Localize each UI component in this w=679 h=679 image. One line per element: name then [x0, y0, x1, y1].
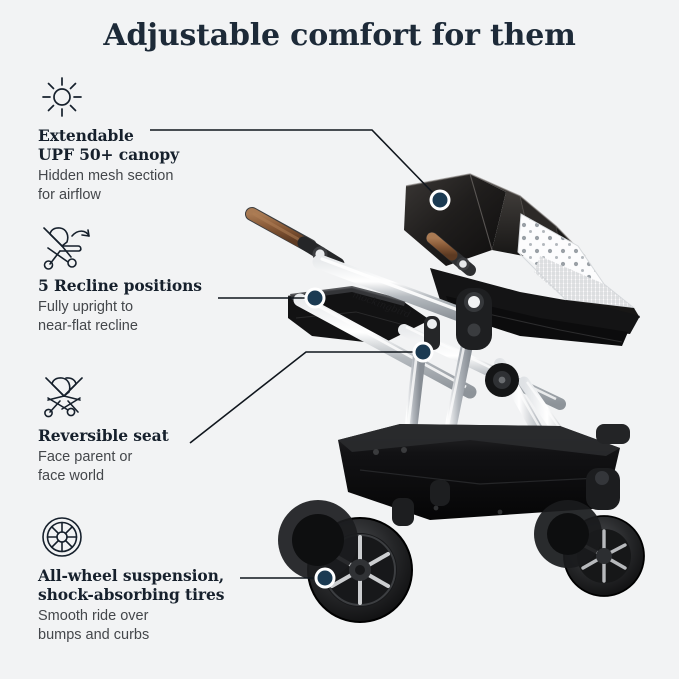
- feature-all-wheel-suspension: All-wheel suspension, shock-absorbing ti…: [38, 514, 253, 645]
- feature-body: Fully upright to near-flat recline: [38, 298, 253, 336]
- feature-body: Face parent or face world: [38, 448, 253, 486]
- rear-wheel-far: [278, 500, 358, 580]
- feature-extendable-canopy: Extendable UPF 50+ canopy Hidden mesh se…: [38, 74, 253, 205]
- feature-body-line1: Smooth ride over: [38, 608, 148, 624]
- feature-reversible-seat: Reversible seat Face parent or face worl…: [38, 374, 253, 486]
- feature-body-line2: near-flat recline: [38, 317, 253, 336]
- feature-heading: Extendable UPF 50+ canopy: [38, 126, 253, 164]
- feature-body-line2: face world: [38, 467, 253, 486]
- infographic-root: Adjustable comfort for them: [0, 0, 679, 679]
- feature-body-line1: Face parent or: [38, 449, 132, 465]
- feature-body-line1: Hidden mesh section: [38, 168, 173, 184]
- feature-body: Smooth ride over bumps and curbs: [38, 607, 253, 645]
- wheel-icon: [38, 514, 90, 560]
- feature-heading: All-wheel suspension, shock-absorbing ti…: [38, 566, 253, 604]
- feature-heading: 5 Recline positions: [38, 276, 253, 295]
- feature-body: Hidden mesh section for airflow: [38, 167, 253, 205]
- feature-heading-line1: 5 Recline positions: [38, 276, 202, 295]
- feature-heading-line2: shock-absorbing tires: [38, 585, 253, 604]
- feature-heading-line1: Extendable: [38, 126, 134, 145]
- feature-heading: Reversible seat: [38, 426, 253, 445]
- feature-body-line1: Fully upright to: [38, 299, 133, 315]
- sun-icon: [38, 74, 90, 120]
- reversible-seat-icon: [38, 374, 90, 420]
- stroller-recline-icon: [38, 224, 90, 270]
- feature-heading-line1: All-wheel suspension,: [38, 566, 224, 585]
- feature-body-line2: bumps and curbs: [38, 626, 253, 645]
- feature-recline-positions: 5 Recline positions Fully upright to nea…: [38, 224, 253, 336]
- feature-body-line2: for airflow: [38, 186, 253, 205]
- feature-heading-line2: UPF 50+ canopy: [38, 145, 253, 164]
- feature-heading-line1: Reversible seat: [38, 426, 169, 445]
